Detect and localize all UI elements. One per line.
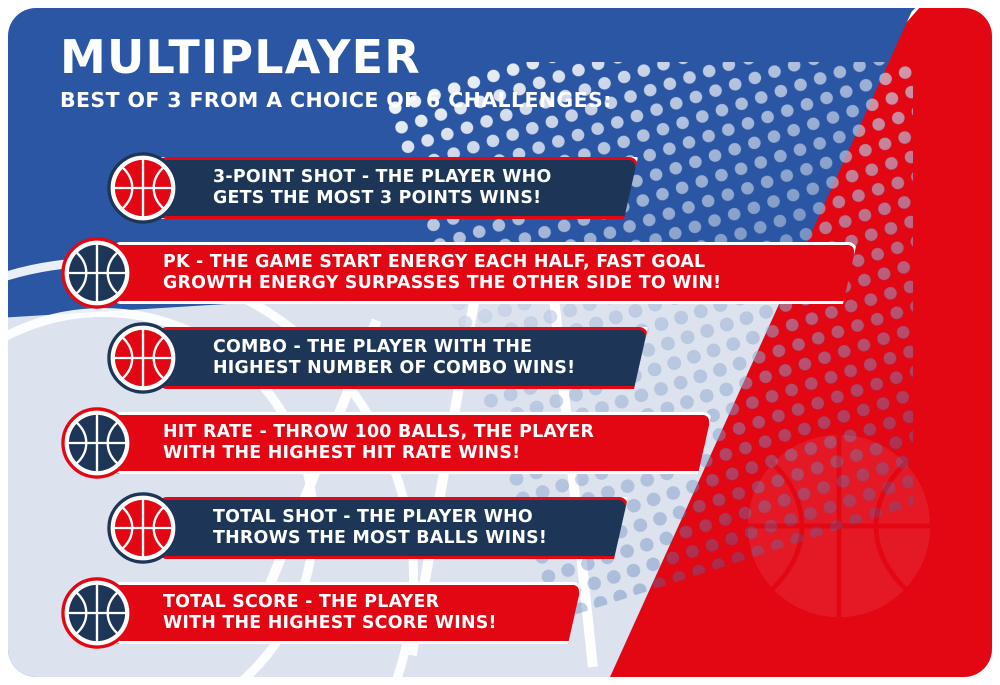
challenge-line-2: THROWS THE MOST BALLS WINS! — [213, 528, 607, 549]
challenge-row[interactable]: 3-POINT SHOT - THE PLAYER WHOGETS THE MO… — [8, 146, 992, 230]
challenge-banner[interactable]: 3-POINT SHOT - THE PLAYER WHOGETS THE MO… — [158, 157, 638, 219]
basketball-icon-red — [106, 321, 180, 395]
challenge-row[interactable]: TOTAL SCORE - THE PLAYERWITH THE HIGHEST… — [8, 571, 992, 655]
basketball-icon-red — [106, 491, 180, 565]
card-stage: MULTIPLAYER BEST OF 3 FROM A CHOICE OF 6… — [8, 8, 992, 677]
basketball-icon-navy — [60, 576, 134, 650]
challenge-ball-icon — [106, 151, 180, 225]
challenge-line-1: 3-POINT SHOT - THE PLAYER WHO — [213, 167, 617, 188]
challenge-ball-icon — [106, 321, 180, 395]
challenge-line-1: TOTAL SCORE - THE PLAYER — [163, 592, 561, 613]
multiplayer-info-card: MULTIPLAYER BEST OF 3 FROM A CHOICE OF 6… — [0, 0, 1000, 685]
challenge-line-1: COMBO - THE PLAYER WITH THE — [213, 337, 627, 358]
challenge-banner[interactable]: TOTAL SCORE - THE PLAYERWITH THE HIGHEST… — [112, 582, 582, 644]
challenge-text-block: TOTAL SCORE - THE PLAYERWITH THE HIGHEST… — [115, 592, 561, 633]
challenge-line-1: TOTAL SHOT - THE PLAYER WHO — [213, 507, 607, 528]
challenge-banner[interactable]: HIT RATE - THROW 100 BALLS, THE PLAYERWI… — [112, 412, 712, 474]
page-subtitle: BEST OF 3 FROM A CHOICE OF 6 CHALLENGES: — [60, 88, 612, 112]
challenge-row[interactable]: TOTAL SHOT - THE PLAYER WHOTHROWS THE MO… — [8, 486, 992, 570]
challenge-list: 3-POINT SHOT - THE PLAYER WHOGETS THE MO… — [8, 146, 992, 656]
challenge-ball-icon — [60, 236, 134, 310]
challenge-line-2: GROWTH ENERGY SURPASSES THE OTHER SIDE T… — [163, 273, 836, 294]
challenge-text-block: HIT RATE - THROW 100 BALLS, THE PLAYERWI… — [115, 422, 691, 463]
challenge-text-block: PK - THE GAME START ENERGY EACH HALF, FA… — [115, 252, 836, 293]
challenge-text-block: COMBO - THE PLAYER WITH THEHIGHEST NUMBE… — [161, 337, 627, 378]
challenge-banner[interactable]: COMBO - THE PLAYER WITH THEHIGHEST NUMBE… — [158, 327, 648, 389]
challenge-line-2: WITH THE HIGHEST HIT RATE WINS! — [163, 443, 691, 464]
challenge-line-1: PK - THE GAME START ENERGY EACH HALF, FA… — [163, 252, 836, 273]
header-block: MULTIPLAYER BEST OF 3 FROM A CHOICE OF 6… — [60, 34, 612, 112]
challenge-line-2: GETS THE MOST 3 POINTS WINS! — [213, 188, 617, 209]
challenge-line-2: HIGHEST NUMBER OF COMBO WINS! — [213, 358, 627, 379]
challenge-ball-icon — [60, 406, 134, 480]
challenge-row[interactable]: PK - THE GAME START ENERGY EACH HALF, FA… — [8, 231, 992, 315]
challenge-line-1: HIT RATE - THROW 100 BALLS, THE PLAYER — [163, 422, 691, 443]
challenge-row[interactable]: HIT RATE - THROW 100 BALLS, THE PLAYERWI… — [8, 401, 992, 485]
challenge-banner[interactable]: PK - THE GAME START ENERGY EACH HALF, FA… — [112, 242, 857, 304]
challenge-banner[interactable]: TOTAL SHOT - THE PLAYER WHOTHROWS THE MO… — [158, 497, 628, 559]
challenge-ball-icon — [60, 576, 134, 650]
challenge-text-block: TOTAL SHOT - THE PLAYER WHOTHROWS THE MO… — [161, 507, 607, 548]
challenge-row[interactable]: COMBO - THE PLAYER WITH THEHIGHEST NUMBE… — [8, 316, 992, 400]
basketball-icon-navy — [60, 236, 134, 310]
basketball-icon-red — [106, 151, 180, 225]
page-title: MULTIPLAYER — [60, 34, 612, 82]
challenge-ball-icon — [106, 491, 180, 565]
basketball-icon-navy — [60, 406, 134, 480]
challenge-text-block: 3-POINT SHOT - THE PLAYER WHOGETS THE MO… — [161, 167, 617, 208]
challenge-line-2: WITH THE HIGHEST SCORE WINS! — [163, 613, 561, 634]
